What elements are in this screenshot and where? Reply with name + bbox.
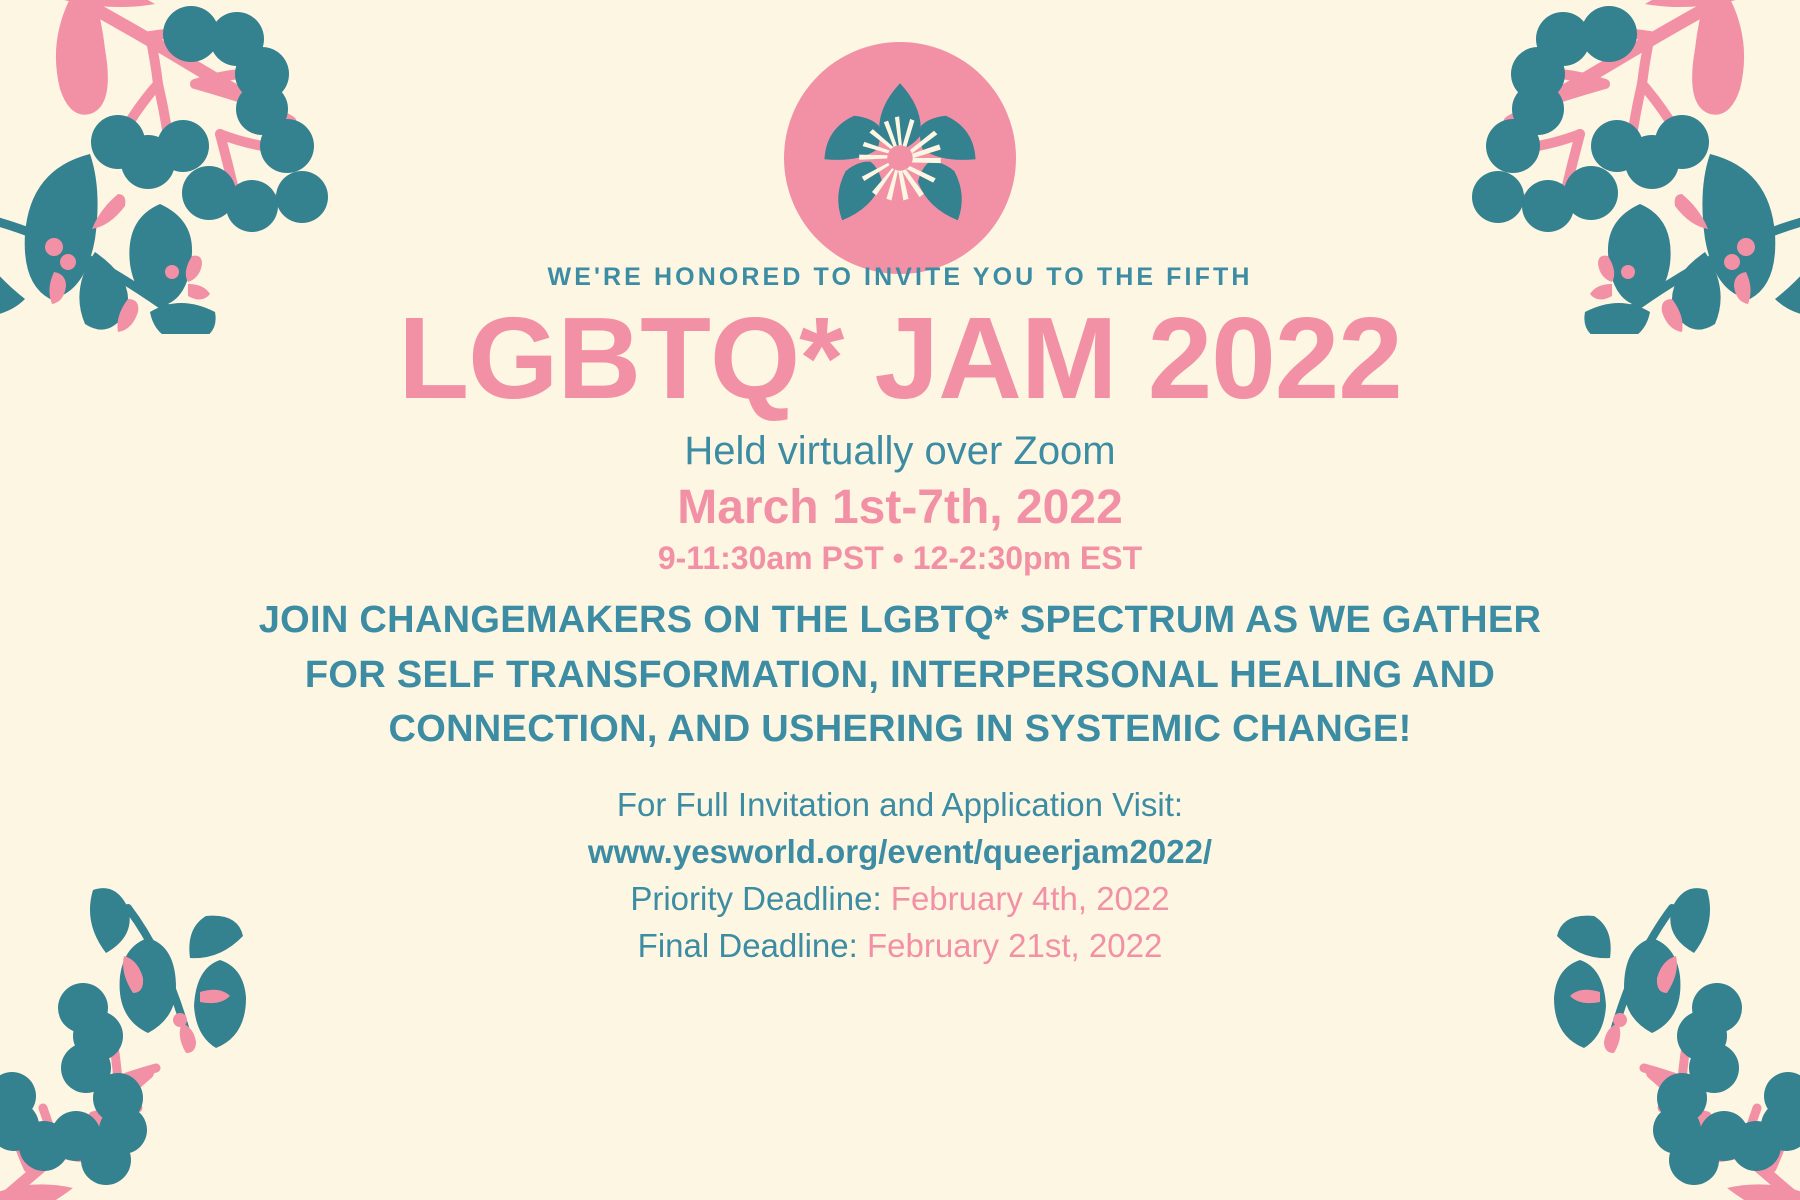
cta-label: For Full Invitation and Application Visi… — [0, 782, 1800, 829]
teal-berries — [1472, 6, 1709, 232]
priority-deadline-date: February 4th, 2022 — [891, 880, 1170, 917]
event-dates: March 1st-7th, 2022 — [0, 478, 1800, 538]
poster-canvas: WE'RE HONORED TO INVITE YOU TO THE FIFTH… — [0, 0, 1800, 1200]
poster-content: WE'RE HONORED TO INVITE YOU TO THE FIFTH… — [0, 262, 1800, 970]
event-description: JOIN CHANGEMAKERS ON THE LGBTQ* SPECTRUM… — [240, 593, 1560, 756]
logo — [784, 42, 1016, 274]
priority-deadline: Priority Deadline: February 4th, 2022 — [0, 876, 1800, 923]
eyebrow-text: WE'RE HONORED TO INVITE YOU TO THE FIFTH — [0, 262, 1800, 292]
final-deadline-label: Final Deadline: — [638, 927, 858, 964]
pink-berry-branch-small — [0, 1040, 156, 1200]
event-url[interactable]: www.yesworld.org/event/queerjam2022/ — [0, 829, 1800, 876]
teal-berries — [91, 6, 328, 232]
teal-berries — [0, 983, 147, 1185]
final-deadline-date: February 21st, 2022 — [867, 927, 1162, 964]
page-title: LGBTQ* JAM 2022 — [0, 298, 1800, 420]
pink-berry-branch — [30, 0, 290, 199]
teal-berries — [1653, 983, 1800, 1185]
flower-icon — [815, 73, 985, 243]
final-deadline: Final Deadline: February 21st, 2022 — [0, 923, 1800, 970]
priority-deadline-label: Priority Deadline: — [630, 880, 881, 917]
pink-berry-branch-small — [1644, 1040, 1800, 1200]
logo-circle — [784, 42, 1016, 274]
pink-berry-branch — [1510, 0, 1770, 199]
event-format: Held virtually over Zoom — [0, 426, 1800, 476]
flower-center — [887, 145, 913, 171]
event-times: 9-11:30am PST • 12-2:30pm EST — [0, 538, 1800, 580]
